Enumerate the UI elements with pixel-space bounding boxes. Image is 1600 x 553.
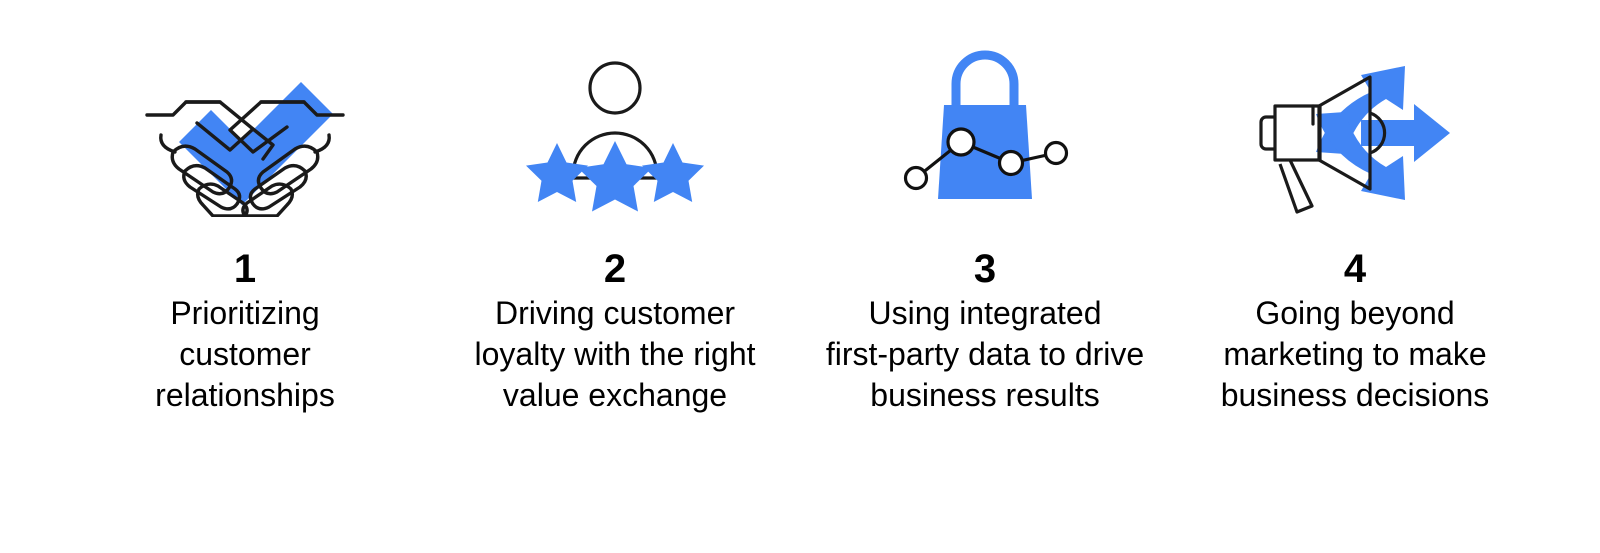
step-column-3: 3 Using integrated first-party data to d… bbox=[800, 0, 1170, 553]
handshake-icon bbox=[145, 47, 345, 217]
step-column-4: 4 Going beyond marketing to make busines… bbox=[1170, 0, 1540, 553]
person-with-stars-icon-slot bbox=[430, 0, 800, 245]
step-caption-1: Prioritizing customer relationships bbox=[114, 293, 376, 416]
step-number-2: 2 bbox=[604, 245, 626, 293]
step-caption-4: Going beyond marketing to make business … bbox=[1189, 293, 1521, 416]
megaphone-arrows-icon bbox=[1253, 44, 1458, 219]
step-number-4: 4 bbox=[1344, 245, 1366, 293]
shopping-bag-chart-icon-slot bbox=[800, 0, 1170, 245]
handshake-icon-slot bbox=[60, 0, 430, 245]
shopping-bag-chart-icon bbox=[885, 47, 1085, 217]
step-caption-2: Driving customer loyalty with the right … bbox=[444, 293, 786, 416]
step-number-1: 1 bbox=[234, 245, 256, 293]
megaphone-arrows-icon-slot bbox=[1170, 0, 1540, 245]
person-with-stars-icon bbox=[515, 47, 715, 217]
step-column-2: 2 Driving customer loyalty with the righ… bbox=[430, 0, 800, 553]
step-caption-3: Using integrated first-party data to dri… bbox=[799, 293, 1171, 416]
step-number-3: 3 bbox=[974, 245, 996, 293]
numbered-steps-board: 1 Prioritizing customer relationships 2 … bbox=[0, 0, 1600, 553]
step-column-1: 1 Prioritizing customer relationships bbox=[60, 0, 430, 553]
